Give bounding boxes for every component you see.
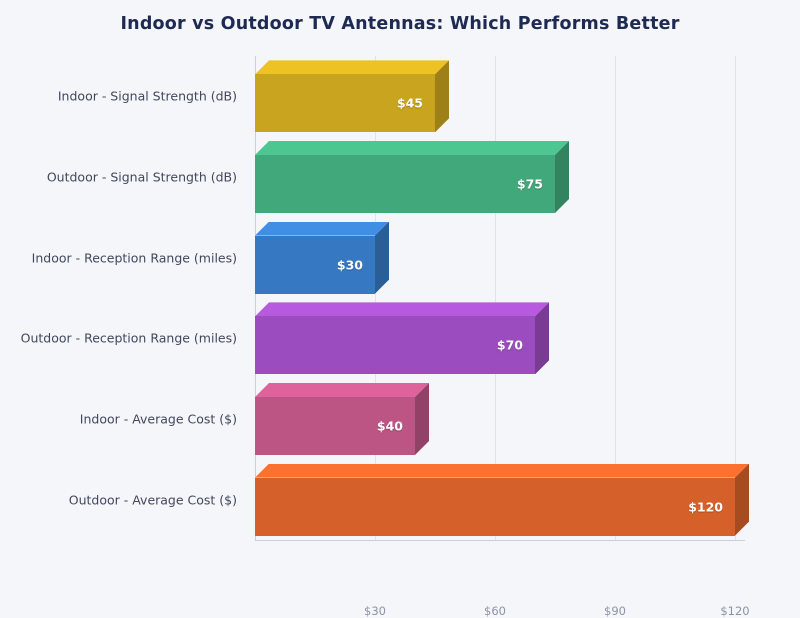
bar-top-face: [255, 383, 429, 397]
bar-value-label: $120: [688, 499, 723, 514]
y-axis-tick-label: Indoor - Average Cost ($): [0, 412, 237, 427]
bar-top-face: [255, 464, 749, 478]
bar-value-label: $30: [337, 257, 363, 272]
bar-top-face: [255, 141, 569, 155]
y-axis-tick-label: Outdoor - Average Cost ($): [0, 492, 237, 507]
chart-title: Indoor vs Outdoor TV Antennas: Which Per…: [0, 14, 800, 34]
x-axis-tick-label: $90: [604, 604, 626, 618]
bar-value-label: $40: [377, 419, 403, 434]
x-axis-tick-label: $60: [484, 604, 506, 618]
x-axis-line: [255, 540, 745, 541]
y-axis-tick-label: Indoor - Signal Strength (dB): [0, 89, 237, 104]
bar-top-face: [255, 60, 449, 74]
bar-top-face: [255, 222, 389, 236]
plot-area: $120$40$70$30$75$45 Outdoor - Average Co…: [255, 56, 745, 540]
bar-front-face: [255, 316, 535, 374]
y-axis-tick-label: Outdoor - Signal Strength (dB): [0, 170, 237, 185]
y-axis-tick-label: Indoor - Reception Range (miles): [0, 250, 237, 265]
chart-canvas: Indoor vs Outdoor TV Antennas: Which Per…: [0, 0, 800, 600]
x-axis-tick-label: $120: [720, 604, 749, 618]
x-axis-tick-label: $30: [364, 604, 386, 618]
y-axis-tick-label: Outdoor - Reception Range (miles): [0, 331, 237, 346]
bar-front-face: [255, 155, 555, 213]
bar-value-label: $75: [517, 177, 543, 192]
bar-value-label: $70: [497, 338, 523, 353]
bar-front-face: [255, 478, 735, 536]
bar[interactable]: $45: [255, 56, 449, 128]
bar-value-label: $45: [397, 96, 423, 111]
bar-top-face: [255, 302, 549, 316]
